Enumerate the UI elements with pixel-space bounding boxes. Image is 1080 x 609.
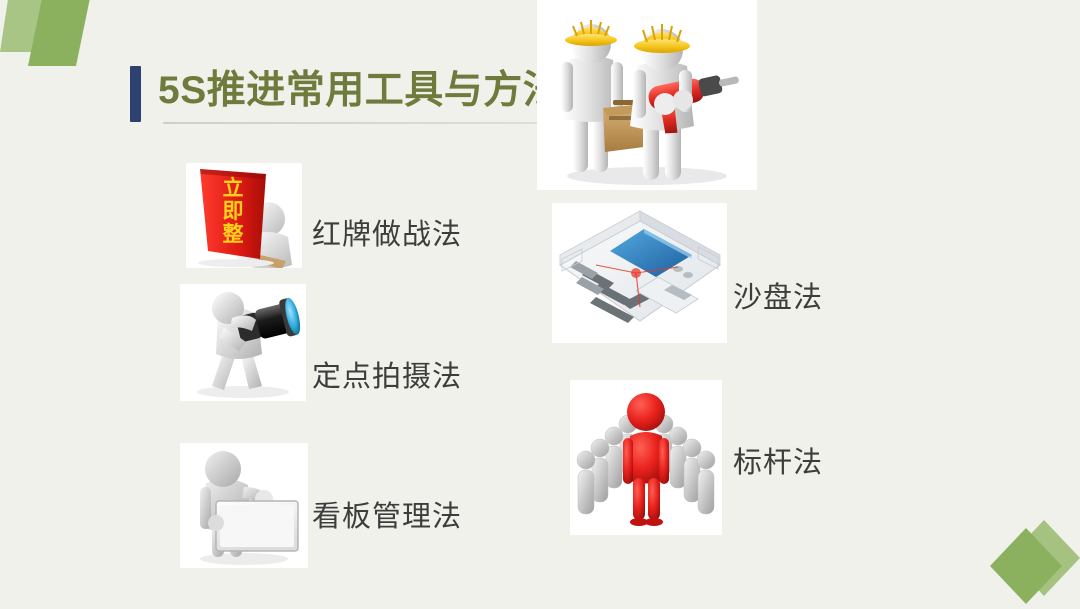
title-accent-bar <box>130 66 141 122</box>
label-camera: 定点拍摄法 <box>312 360 462 394</box>
green-diamonds-decoration <box>972 508 1080 604</box>
page-title: 5S推进常用工具与方法 <box>130 64 562 122</box>
red-tag-banner-image: 立 即 整 <box>186 163 302 268</box>
figure-with-camera-image <box>180 284 306 401</box>
label-benchmark: 标杆法 <box>733 446 823 480</box>
svg-text:即: 即 <box>223 199 244 223</box>
svg-text:整: 整 <box>223 222 244 246</box>
red-leader-crowd-image <box>570 380 722 535</box>
figure-holding-board-image <box>180 443 308 568</box>
svg-text:立: 立 <box>223 176 244 200</box>
label-red-tag: 红牌做战法 <box>312 218 462 252</box>
factory-sand-table-image <box>552 203 727 343</box>
label-sandbox: 沙盘法 <box>733 281 823 315</box>
title-underline <box>163 122 538 124</box>
slide-canvas: 5S推进常用工具与方法 <box>0 0 1080 608</box>
green-parallelograms-decoration <box>0 0 120 80</box>
label-kanban: 看板管理法 <box>312 500 462 534</box>
two-workers-with-tools-image <box>537 0 757 190</box>
title-text: 5S推进常用工具与方法 <box>158 64 562 118</box>
